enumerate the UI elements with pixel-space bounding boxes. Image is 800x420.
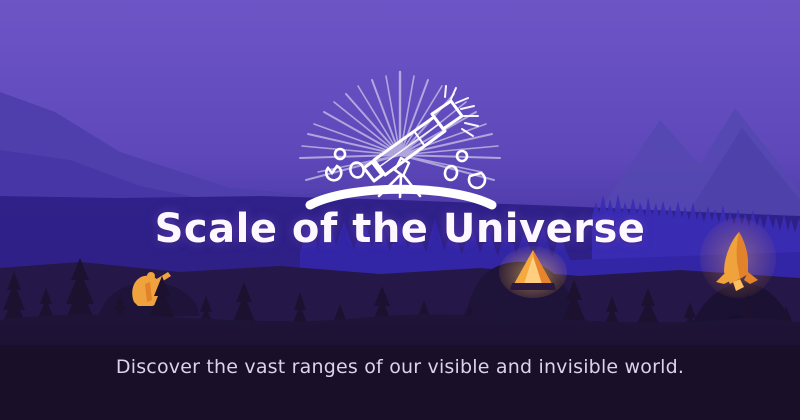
scene-illustration bbox=[0, 0, 800, 420]
hero-banner: Scale of the Universe Discover the vast … bbox=[0, 0, 800, 420]
ground-base bbox=[0, 345, 800, 420]
